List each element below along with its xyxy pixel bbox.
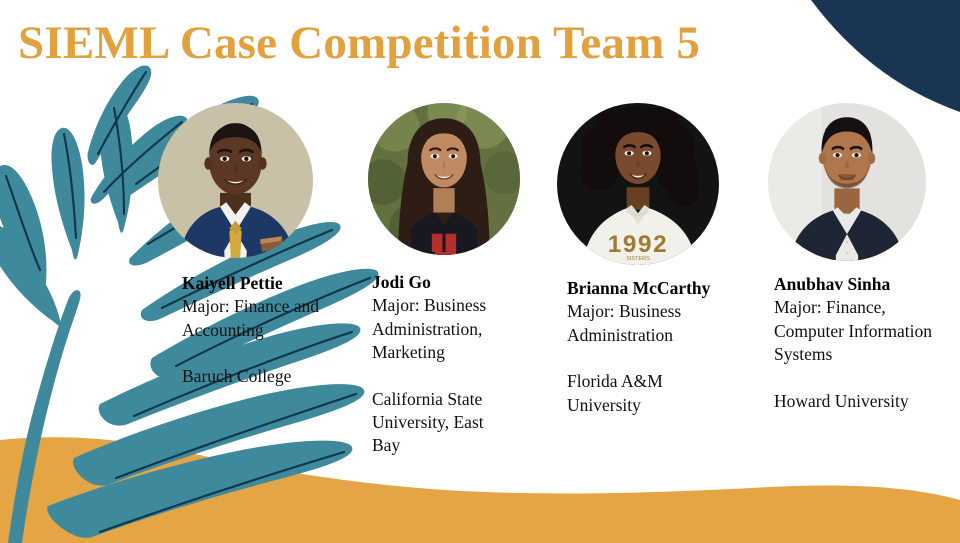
- avatar: [768, 103, 926, 261]
- svg-text:SISTERS: SISTERS: [626, 256, 650, 262]
- member-major: Major: Business Administration: [567, 300, 727, 347]
- avatar-photo: [368, 103, 520, 255]
- member-school: Baruch College: [182, 365, 324, 388]
- team-member-card: Kaiyell Pettie Major: Finance and Accoun…: [158, 103, 358, 389]
- member-school: Florida A&M University: [567, 370, 727, 417]
- avatar: [368, 103, 520, 255]
- member-major: Major: Finance and Accounting: [182, 295, 324, 342]
- avatar-photo: [158, 103, 313, 258]
- member-major: Major: Finance, Computer Information Sys…: [774, 296, 934, 366]
- member-school: Howard University: [774, 390, 934, 413]
- member-info: Brianna McCarthy Major: Business Adminis…: [567, 277, 727, 417]
- member-name: Brianna McCarthy: [567, 277, 727, 300]
- avatar: [158, 103, 313, 258]
- team-member-list: Kaiyell Pettie Major: Finance and Accoun…: [0, 0, 960, 543]
- team-member-card: Jodi Go Major: Business Administration, …: [358, 103, 558, 457]
- team-member-card: 1992 SISTERS: [553, 103, 753, 417]
- avatar-photo: 1992 SISTERS: [557, 103, 719, 265]
- avatar: 1992 SISTERS: [557, 103, 719, 265]
- member-name: Kaiyell Pettie: [182, 272, 324, 295]
- member-name: Anubhav Sinha: [774, 273, 934, 296]
- member-info: Anubhav Sinha Major: Finance, Computer I…: [774, 273, 934, 413]
- member-name: Jodi Go: [372, 271, 512, 294]
- presentation-slide: SIEML Case Competition Team 5: [0, 0, 960, 543]
- avatar-photo: [768, 103, 926, 261]
- member-info: Jodi Go Major: Business Administration, …: [372, 271, 512, 457]
- member-major: Major: Business Administration, Marketin…: [372, 294, 512, 364]
- page-title: SIEML Case Competition Team 5: [18, 18, 838, 70]
- member-info: Kaiyell Pettie Major: Finance and Accoun…: [182, 272, 324, 389]
- team-member-card: Anubhav Sinha Major: Finance, Computer I…: [758, 103, 958, 413]
- member-school: California State University, East Bay: [372, 388, 512, 458]
- svg-text:1992: 1992: [608, 231, 669, 258]
